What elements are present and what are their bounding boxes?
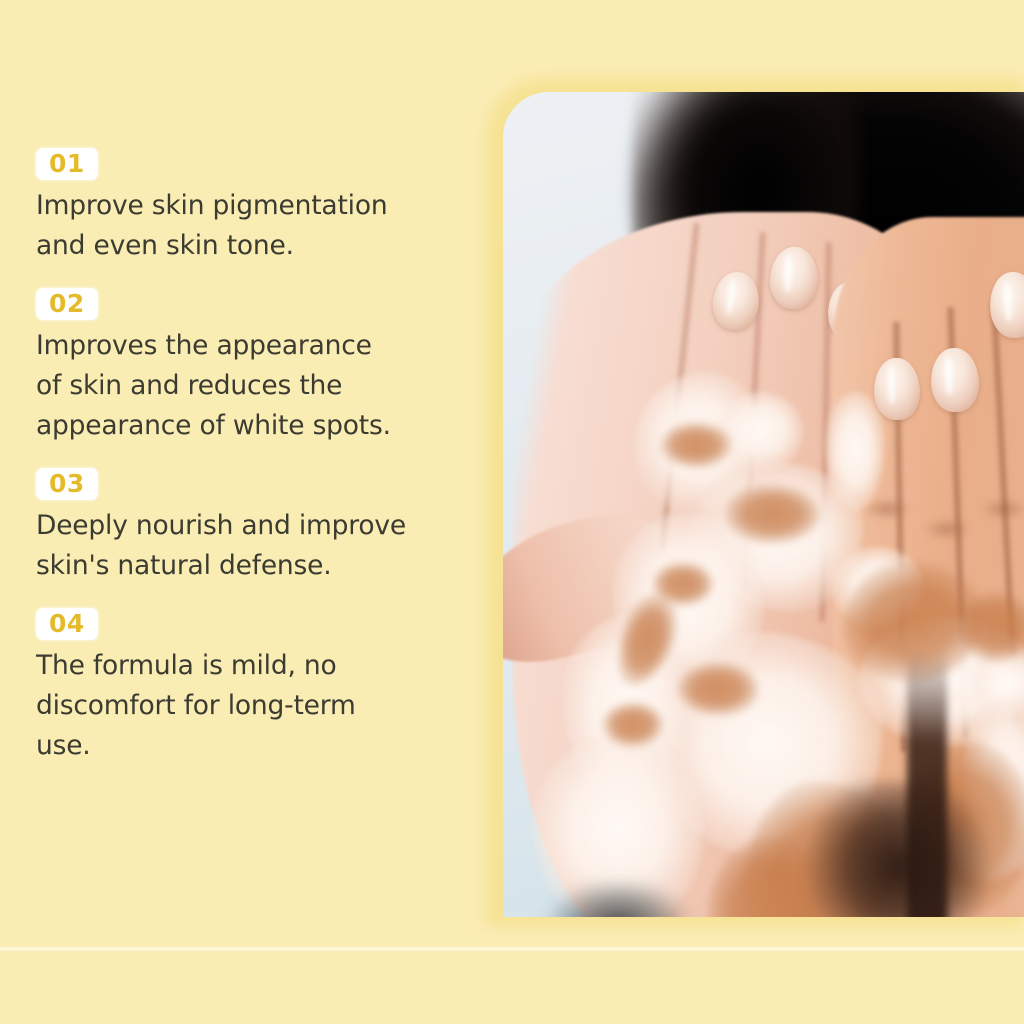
benefit-description: Improves the appearance of skin and redu… <box>36 326 436 446</box>
benefit-item: 01 Improve skin pigmentation and even sk… <box>36 148 446 266</box>
benefit-number-badge: 03 <box>36 468 98 500</box>
benefit-item: 04 The formula is mild, no discomfort fo… <box>36 608 446 766</box>
benefit-number: 03 <box>49 469 85 498</box>
benefit-item: 03 Deeply nourish and improve skin's nat… <box>36 468 446 586</box>
benefit-number: 02 <box>49 289 85 318</box>
benefit-description: Improve skin pigmentation and even skin … <box>36 186 436 266</box>
benefit-number-badge: 02 <box>36 288 98 320</box>
benefit-number-badge: 04 <box>36 608 98 640</box>
knuckle-crease <box>975 492 1024 526</box>
bottom-left-shadow <box>543 882 693 917</box>
pigment-island <box>725 484 820 544</box>
benefit-number: 04 <box>49 609 85 638</box>
benefit-item: 02 Improves the appearance of skin and r… <box>36 288 446 446</box>
benefit-number-badge: 01 <box>36 148 98 180</box>
pigment-island <box>958 592 1024 662</box>
product-benefits-infographic: 01 Improve skin pigmentation and even sk… <box>0 0 1024 1024</box>
pigment-island <box>661 422 731 468</box>
benefits-list: 01 Improve skin pigmentation and even sk… <box>36 148 446 788</box>
vitiligo-patch <box>718 392 803 472</box>
knuckle-crease <box>918 512 976 546</box>
bottom-shadow <box>803 782 993 917</box>
footer-divider <box>0 946 1024 952</box>
pigment-island <box>603 702 663 747</box>
benefit-number: 01 <box>49 149 85 178</box>
vitiligo-hands-photo <box>503 92 1024 917</box>
benefit-description: Deeply nourish and improve skin's natura… <box>36 506 436 586</box>
benefit-description: The formula is mild, no discomfort for l… <box>36 646 436 766</box>
